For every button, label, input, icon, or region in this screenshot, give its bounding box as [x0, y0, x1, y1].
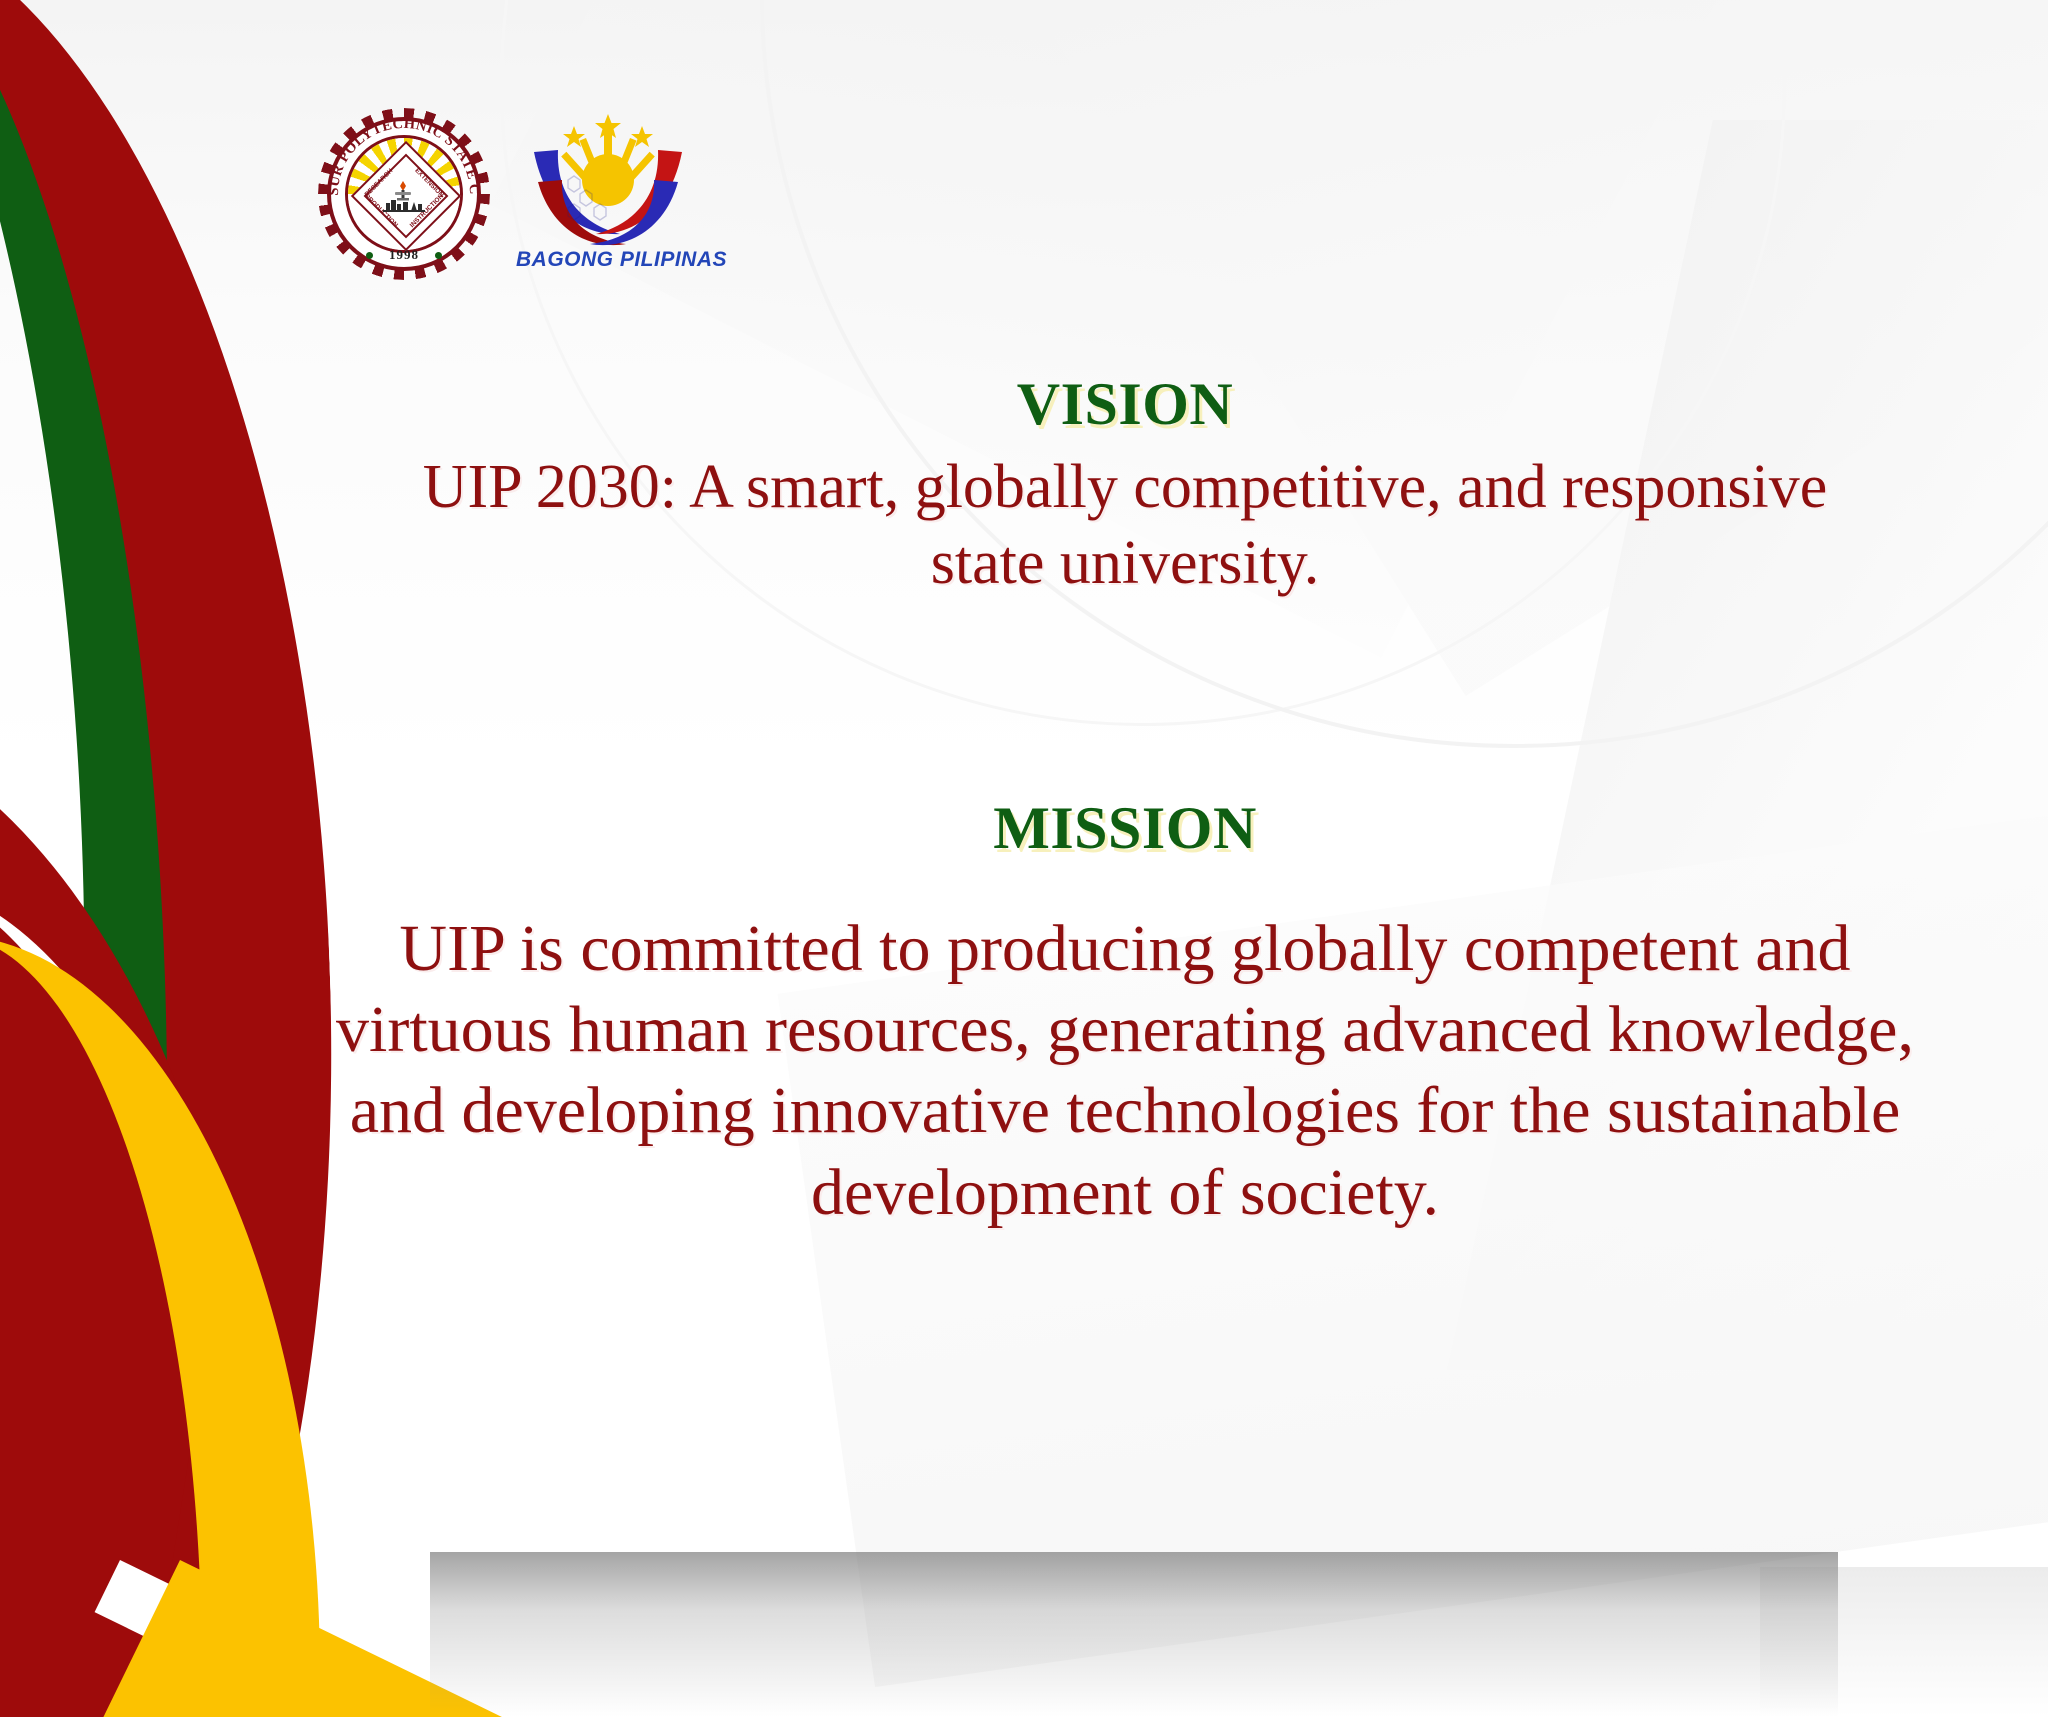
vision-body-text: UIP 2030: A smart, globally competitive,…: [420, 450, 1830, 601]
mission-heading: MISSION: [300, 798, 1950, 858]
bagong-pilipinas-mark: [516, 108, 700, 266]
logo-row: ILOCOS SUR POLYTECHNIC STATE COLLEGE RES…: [318, 108, 700, 280]
ispsc-seal-icon: ILOCOS SUR POLYTECHNIC STATE COLLEGE RES…: [318, 108, 490, 280]
vision-heading: VISION: [300, 374, 1950, 434]
mission-body-text: UIP is committed to producing globally c…: [320, 908, 1930, 1233]
bagong-pilipinas-icon: BAGONG PILIPINAS: [516, 108, 700, 266]
vision-mission-poster: ILOCOS SUR POLYTECHNIC STATE COLLEGE RES…: [0, 0, 2048, 1717]
seal-torch-and-industry-icon: [381, 180, 427, 214]
bottom-shadow-strip-right: [1760, 1567, 2048, 1717]
seal-year: 1998: [318, 247, 490, 263]
bp-sun-disc: [582, 154, 634, 206]
bagong-pilipinas-caption: BAGONG PILIPINAS: [516, 248, 700, 272]
bottom-shadow-strip: [430, 1552, 1838, 1717]
